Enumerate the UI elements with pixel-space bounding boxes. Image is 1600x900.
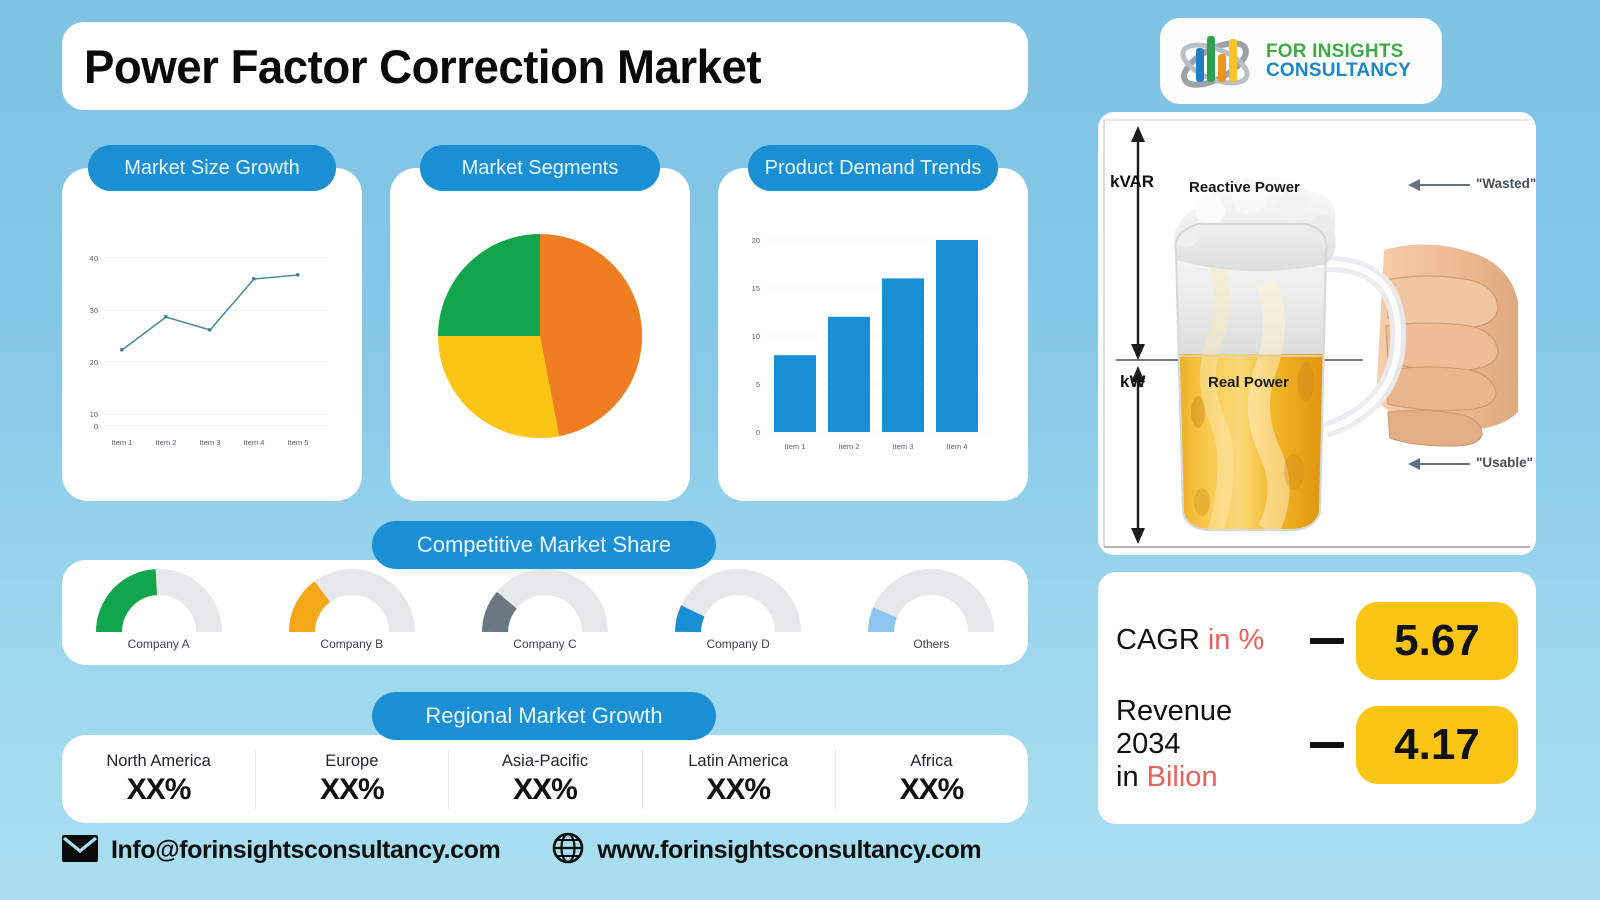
- wasted-electricity-label: "Wasted" Ele: [1476, 176, 1536, 191]
- beer-mug-diagram: [1098, 112, 1536, 555]
- region-cell-europe: Europe XX%: [255, 748, 448, 811]
- gauge-arc-d: [672, 566, 804, 636]
- regional-market-growth-panel: North America XX% Europe XX% Asia-Pacifi…: [62, 735, 1028, 823]
- gauge-company-b: Company B: [277, 566, 427, 651]
- region-value: XX%: [255, 773, 448, 807]
- region-name: Africa: [835, 752, 1028, 771]
- page-title-card: Power Factor Correction Market: [62, 22, 1028, 110]
- real-power-label: Real Power: [1208, 374, 1289, 391]
- competitive-market-share-panel: Company A Company B Company C Company D …: [62, 560, 1028, 665]
- kpi-label-cagr-accent: in %: [1208, 624, 1264, 656]
- footer-website-item[interactable]: www.forinsightsconsultancy.com: [552, 832, 981, 869]
- bar-item-2: [828, 317, 870, 432]
- region-value: XX%: [448, 773, 641, 807]
- svg-text:Item 2: Item 2: [839, 442, 860, 451]
- region-cell-north-america: North America XX%: [62, 748, 255, 811]
- gauge-arc-a: [93, 566, 225, 636]
- footer-website-text: www.forinsightsconsultancy.com: [597, 836, 981, 865]
- kpi-value-revenue: 4.17: [1356, 706, 1518, 784]
- logo-line-1: FOR INSIGHTS: [1266, 42, 1411, 61]
- gauge-label-b: Company B: [277, 637, 427, 651]
- usable-electricity-label: "Usable" Ele: [1476, 455, 1536, 470]
- svg-text:5: 5: [756, 380, 760, 389]
- svg-text:Item 1: Item 1: [785, 442, 806, 451]
- bar-item-3: [882, 278, 924, 432]
- region-cell-asia-pacific: Asia-Pacific XX%: [448, 748, 641, 811]
- kpi-label-cagr-main: CAGR: [1116, 624, 1208, 656]
- power-factor-beer-analogy-image: kVAR kW Reactive Power Real Power "Waste…: [1098, 112, 1536, 555]
- kpi-panel: CAGR in % 5.67 Revenue 2034 in Bilion 4.…: [1098, 572, 1536, 824]
- region-name: Asia-Pacific: [448, 752, 641, 771]
- footer-contact-bar: Info@forinsightsconsultancy.com www.fori…: [62, 832, 981, 869]
- svg-text:Item 4: Item 4: [244, 438, 265, 447]
- chart-card-market-size-growth: 40 30 20 10 0 Item 1 Item 2 Item 3 Item …: [62, 168, 362, 501]
- kvar-dimension-label: kVAR: [1110, 172, 1154, 192]
- svg-text:Item 1: Item 1: [112, 438, 133, 447]
- gauge-label-c: Company C: [470, 637, 620, 651]
- badge-competitive-market-share: Competitive Market Share: [372, 521, 716, 569]
- svg-text:Item 4: Item 4: [947, 442, 968, 451]
- pie-slice-3: [438, 234, 540, 336]
- region-value: XX%: [642, 773, 835, 807]
- badge-product-demand-trends: Product Demand Trends: [748, 145, 998, 191]
- line-chart: 40 30 20 10 0 Item 1 Item 2 Item 3 Item …: [62, 168, 362, 501]
- logo-line-2: CONSULTANCY: [1266, 61, 1411, 80]
- kpi-dash-cagr: [1310, 638, 1344, 644]
- pie-slice-2: [438, 336, 559, 438]
- footer-email-text: Info@forinsightsconsultancy.com: [111, 836, 500, 865]
- kpi-value-cagr: 5.67: [1356, 602, 1518, 680]
- gauge-label-a: Company A: [84, 637, 234, 651]
- svg-text:20: 20: [752, 236, 760, 245]
- svg-text:20: 20: [90, 358, 98, 367]
- region-cell-africa: Africa XX%: [835, 748, 1028, 811]
- gauge-label-others: Others: [856, 637, 1006, 651]
- badge-regional-market-growth: Regional Market Growth: [372, 692, 716, 740]
- svg-text:10: 10: [90, 410, 98, 419]
- envelope-icon: [62, 835, 98, 867]
- svg-text:0: 0: [94, 422, 98, 431]
- gauge-others: Others: [856, 566, 1006, 651]
- pie-slice-1: [540, 234, 642, 436]
- gauge-arc-others: [865, 566, 997, 636]
- chart-card-product-demand-trends: 20 15 10 5 0 Item 1 Item 2 Item 3 Item 4: [718, 168, 1028, 501]
- reactive-power-label: Reactive Power: [1189, 179, 1300, 196]
- gauge-arc-b: [286, 566, 418, 636]
- bar-chart: 20 15 10 5 0 Item 1 Item 2 Item 3 Item 4: [718, 168, 1028, 501]
- svg-text:Item 2: Item 2: [156, 438, 177, 447]
- region-cell-latin-america: Latin America XX%: [642, 748, 835, 811]
- gauge-arc-c: [479, 566, 611, 636]
- region-value: XX%: [835, 773, 1028, 807]
- kpi-label-revenue-main: Revenue 2034: [1116, 695, 1232, 760]
- svg-text:0: 0: [756, 428, 760, 437]
- gauge-label-d: Company D: [663, 637, 813, 651]
- chart-card-market-segments: [390, 168, 690, 501]
- bar-item-4: [936, 240, 978, 432]
- gauge-company-a: Company A: [84, 566, 234, 651]
- svg-text:Item 3: Item 3: [200, 438, 221, 447]
- bar-chart-swoosh-logo-icon: [1174, 26, 1256, 96]
- kw-dimension-label: kW: [1120, 372, 1146, 392]
- kpi-label-revenue: Revenue 2034 in Bilion: [1116, 695, 1298, 794]
- gauge-company-d: Company D: [663, 566, 813, 651]
- bar-item-1: [774, 355, 816, 432]
- footer-email-item[interactable]: Info@forinsightsconsultancy.com: [62, 835, 500, 867]
- kpi-row-cagr: CAGR in % 5.67: [1116, 602, 1518, 680]
- gauge-company-c: Company C: [470, 566, 620, 651]
- region-name: Latin America: [642, 752, 835, 771]
- kpi-row-revenue: Revenue 2034 in Bilion 4.17: [1116, 695, 1518, 794]
- brand-logo[interactable]: FOR INSIGHTS CONSULTANCY: [1160, 18, 1442, 104]
- region-value: XX%: [62, 773, 255, 807]
- badge-market-segments: Market Segments: [420, 145, 660, 191]
- globe-icon: [552, 832, 584, 869]
- kpi-dash-revenue: [1310, 742, 1344, 748]
- svg-text:15: 15: [752, 284, 760, 293]
- badge-market-size-growth: Market Size Growth: [88, 145, 336, 191]
- kpi-label-revenue-accent: Bilion: [1147, 761, 1218, 793]
- kpi-label-cagr: CAGR in %: [1116, 624, 1298, 657]
- logo-wordmark: FOR INSIGHTS CONSULTANCY: [1266, 42, 1411, 81]
- region-name: Europe: [255, 752, 448, 771]
- hand-holding-mug: [1360, 230, 1536, 446]
- svg-text:Item 3: Item 3: [893, 442, 914, 451]
- svg-text:30: 30: [90, 306, 98, 315]
- page-title: Power Factor Correction Market: [84, 39, 761, 94]
- svg-text:10: 10: [752, 332, 760, 341]
- kpi-label-revenue-prefix: in: [1116, 761, 1147, 793]
- svg-text:Item 5: Item 5: [288, 438, 309, 447]
- svg-text:40: 40: [90, 254, 98, 263]
- pie-chart: [390, 168, 690, 501]
- region-name: North America: [62, 752, 255, 771]
